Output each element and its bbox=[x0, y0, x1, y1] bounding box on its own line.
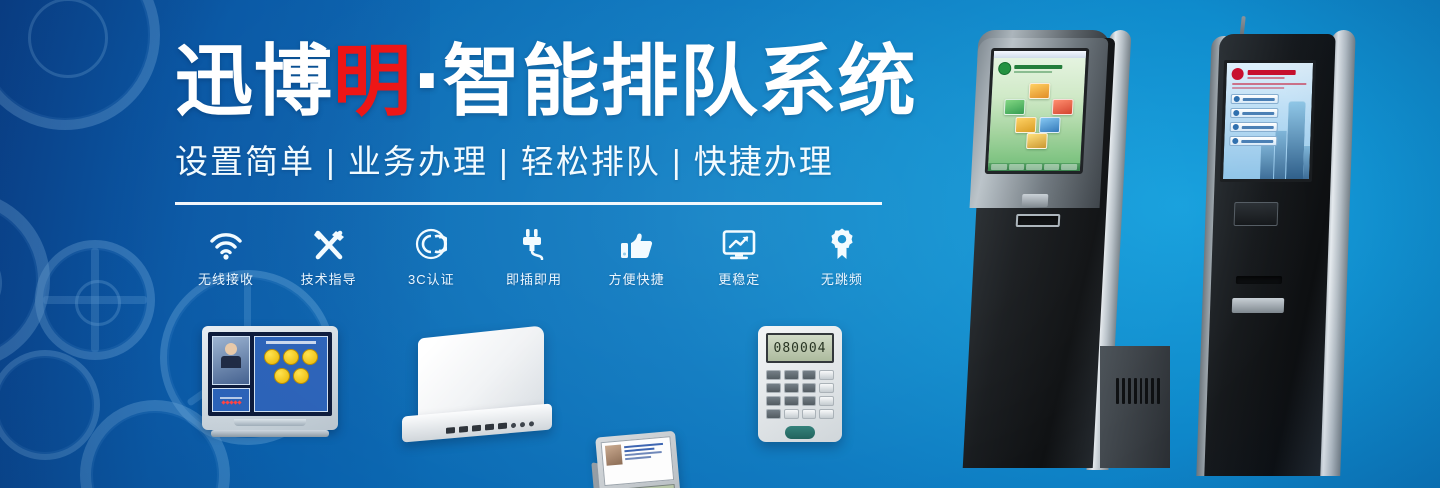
vignette-overlay bbox=[0, 0, 1440, 488]
promotional-banner: 迅博明·智能排队系统 设置简单 | 业务办理 | 轻松排队 | 快捷办理 无线接… bbox=[0, 0, 1440, 488]
